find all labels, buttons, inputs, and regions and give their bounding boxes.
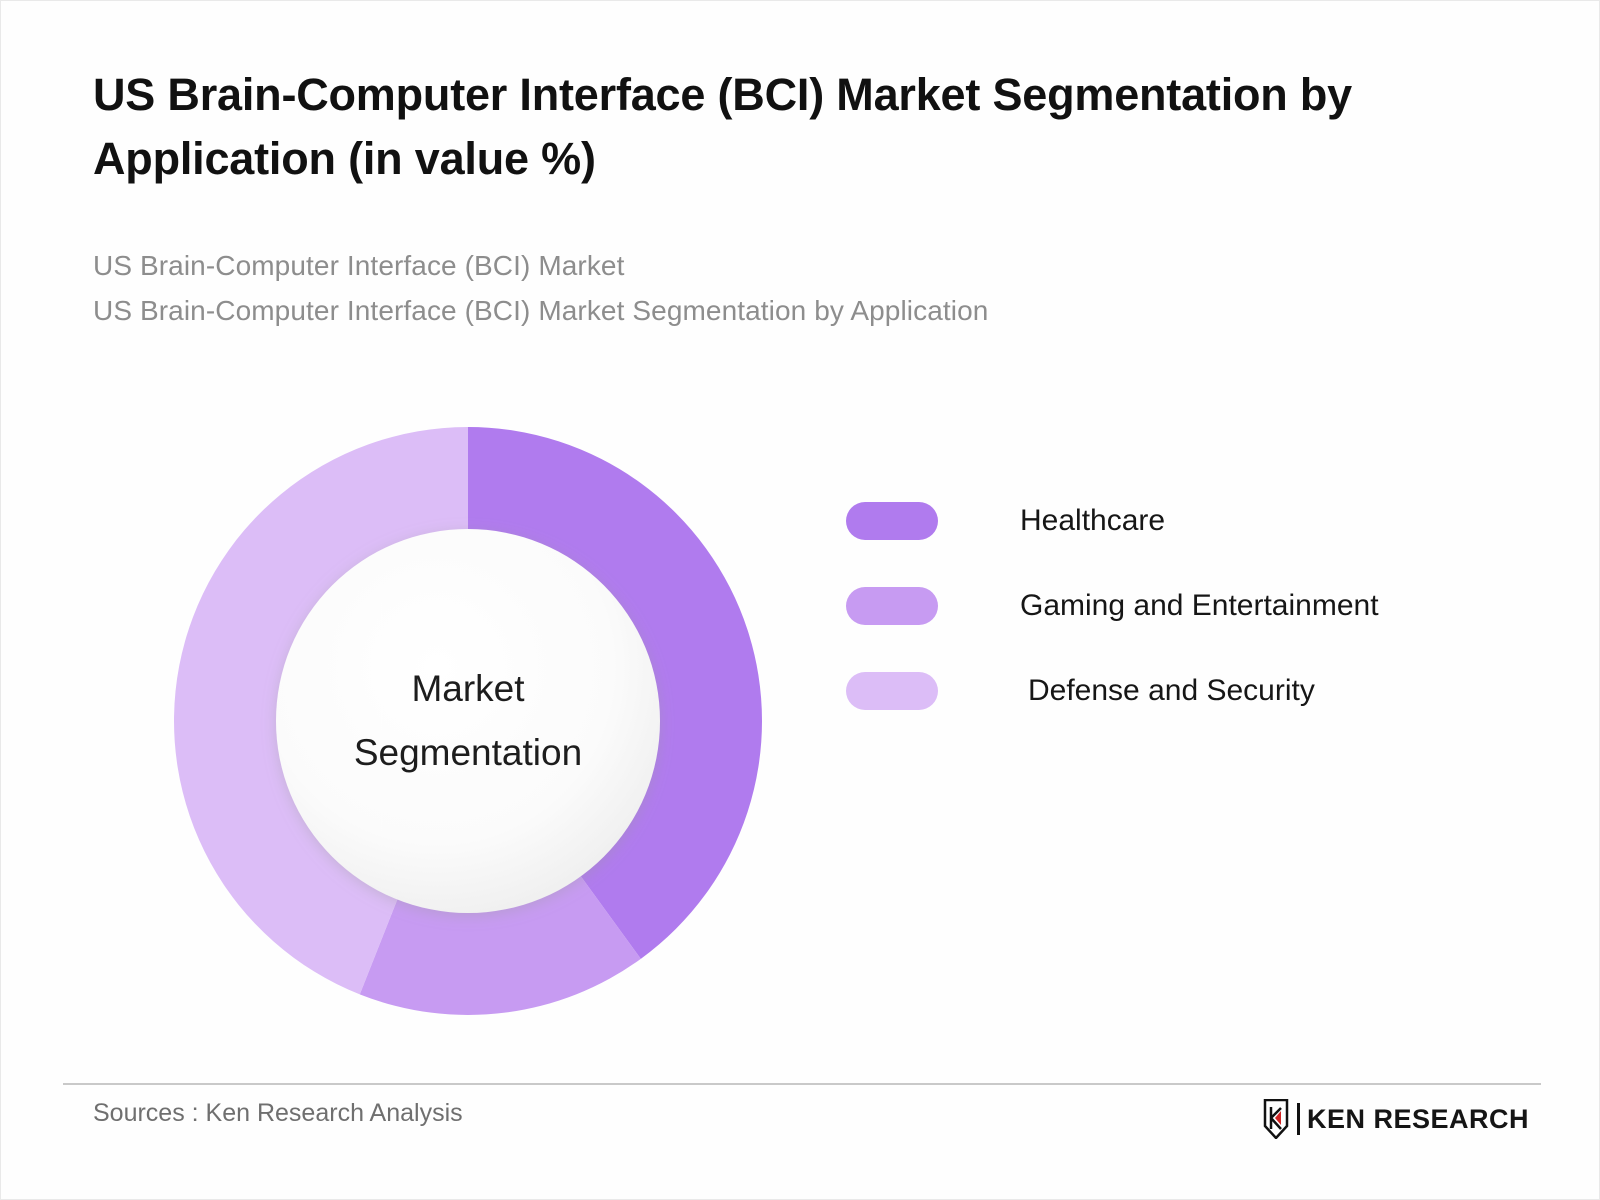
legend-label: Gaming and Entertainment	[1020, 589, 1379, 623]
footer-sources: Sources : Ken Research Analysis	[93, 1099, 463, 1128]
brand-logo: KEN RESEARCH	[1262, 1099, 1529, 1139]
subtitle-market: US Brain-Computer Interface (BCI) Market	[93, 243, 1493, 288]
header: US Brain-Computer Interface (BCI) Market…	[93, 63, 1493, 334]
legend-swatch-icon	[846, 587, 938, 625]
subtitle-group: US Brain-Computer Interface (BCI) Market…	[93, 243, 1493, 334]
donut-hole	[276, 529, 660, 913]
ken-research-shield-icon	[1262, 1099, 1290, 1139]
donut-chart: Market Segmentation	[174, 427, 762, 1015]
slide-canvas: US Brain-Computer Interface (BCI) Market…	[0, 0, 1600, 1200]
brand-name: KEN RESEARCH	[1307, 1104, 1529, 1135]
subtitle-segmentation: US Brain-Computer Interface (BCI) Market…	[93, 288, 1493, 333]
chart-area: Market Segmentation Healthcare Gaming an…	[1, 401, 1600, 1061]
legend-item-healthcare[interactable]: Healthcare	[846, 496, 1379, 546]
donut-svg	[174, 427, 762, 1015]
legend-label: Defense and Security	[1028, 674, 1315, 708]
legend-swatch-icon	[846, 502, 938, 540]
legend-label: Healthcare	[1020, 504, 1165, 538]
page-title: US Brain-Computer Interface (BCI) Market…	[93, 63, 1483, 191]
brand-separator	[1297, 1103, 1300, 1135]
footer-divider	[63, 1083, 1541, 1085]
legend-item-defense-and-security[interactable]: Defense and Security	[846, 666, 1379, 716]
chart-legend: Healthcare Gaming and Entertainment Defe…	[846, 496, 1379, 751]
legend-item-gaming-and-entertainment[interactable]: Gaming and Entertainment	[846, 581, 1379, 631]
legend-swatch-icon	[846, 672, 938, 710]
